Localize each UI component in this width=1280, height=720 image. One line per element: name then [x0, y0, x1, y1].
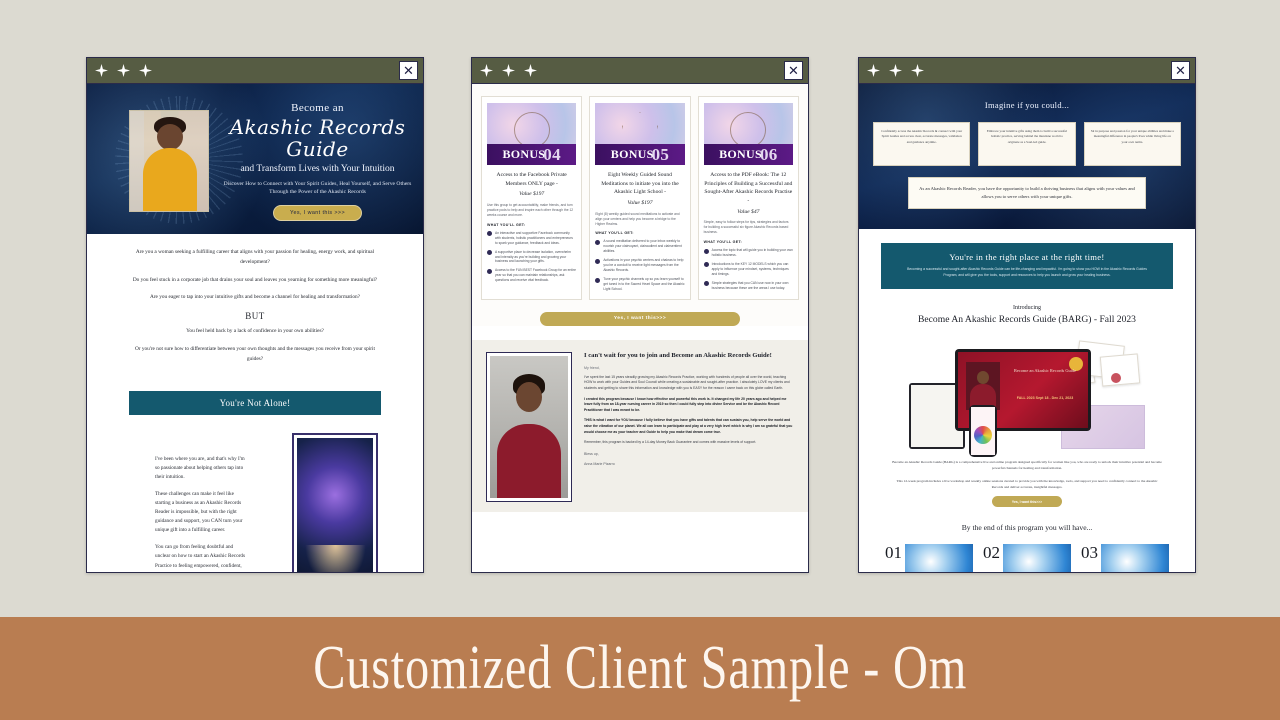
- sparkle-icon: [911, 64, 924, 77]
- bonus-list-item: A sound meditation delivered to your inb…: [595, 239, 684, 254]
- window-1-viewport[interactable]: Become an Akashic Records Guide and Tran…: [87, 84, 423, 572]
- bonus-title: Eight Weekly Guided Sound Meditations to…: [595, 171, 684, 208]
- browser-window-1[interactable]: ✕ Become an Akashic Records Guide and Tr…: [86, 57, 424, 573]
- bonus-list-item: Activations in your psychic centers and …: [595, 258, 684, 273]
- bonus-artwork: BONUS06: [704, 103, 793, 165]
- bonus-heading: WHAT YOU'LL GET:: [704, 240, 793, 244]
- testimonial-paragraph: THIS is what I want for YOU because I fu…: [584, 418, 794, 435]
- outcome-card: 03: [1081, 544, 1169, 572]
- bonus-title-text: Eight Weekly Guided Sound Meditations to…: [601, 172, 679, 195]
- author-dress: [497, 424, 561, 498]
- window-3-star-decoration: [867, 64, 924, 77]
- imagine-card: Embrace your intuitive gifts using them …: [978, 122, 1075, 166]
- hero-kicker: Become an: [222, 102, 413, 114]
- bonus-value: Value $197: [595, 199, 684, 208]
- sparkle-icon: [95, 64, 108, 77]
- not-alone-banner: You're Not Alone!: [129, 391, 381, 415]
- testimonial-paragraph: I've spent the last 15 years steadily gr…: [584, 375, 794, 392]
- laptop-screen-portrait: [966, 362, 1000, 410]
- sparkle-icon: [867, 64, 880, 77]
- close-icon[interactable]: ✕: [784, 61, 803, 80]
- bonus-blurb: Eight (8) weekly guided sound meditation…: [595, 212, 684, 227]
- hero-section: Become an Akashic Records Guide and Tran…: [87, 84, 423, 234]
- window-2-star-decoration: [480, 64, 537, 77]
- bonus-title: Access to the PDF eBook: The 12 Principl…: [704, 171, 793, 216]
- bonus-label: BONUS: [719, 147, 762, 162]
- copy-paragraph: Are you a woman seeking a fulfilling car…: [131, 248, 379, 268]
- phone-screen: [971, 407, 995, 455]
- portrait-dress: [143, 148, 197, 212]
- hero-subtitle: and Transform Lives with Your Intuition: [222, 164, 413, 174]
- program-intro: Introducing Become An Akashic Records Gu…: [881, 305, 1173, 325]
- cosmic-book-image: [297, 438, 373, 572]
- bonus-list-item: A supportive place to decrease isolation…: [487, 250, 576, 265]
- caption-text: Customized Client Sample - Om: [313, 633, 967, 704]
- outcome-image: [1101, 544, 1169, 572]
- story-paragraph: I've been where you are, and that's why …: [155, 455, 249, 482]
- testimonial-signature: Anna Marie Pizarro: [584, 462, 794, 466]
- bonus-card[interactable]: BONUS06 Access to the PDF eBook: The 12 …: [698, 96, 799, 300]
- story-paragraph: These challenges can make it feel like s…: [155, 490, 249, 535]
- browser-window-2[interactable]: ✕ BONUS04 Access to the Facebook Private…: [471, 57, 809, 573]
- bonus-blurb: Use this group to get accountability, ma…: [487, 203, 576, 218]
- bonus-band: BONUS04: [487, 144, 576, 165]
- imagine-section: Imagine if you could... Confidently acce…: [859, 84, 1195, 229]
- bonus-number: 05: [652, 145, 670, 165]
- right-place-banner: You're in the right place at the right t…: [881, 243, 1173, 289]
- portrait-face: [157, 124, 183, 150]
- product-mockup: Become an Akashic Records Guide FALL 202…: [881, 331, 1173, 459]
- bonus-band: BONUS05: [595, 144, 684, 165]
- bonus-list-item: Introductions to the KEY 12 MODELS which…: [704, 262, 793, 277]
- sacred-geometry-icon: [622, 112, 658, 148]
- outcome-image: [905, 544, 973, 572]
- bullet-icon: [487, 269, 492, 274]
- window-3-content: You're in the right place at the right t…: [859, 243, 1195, 572]
- right-place-body: Becoming a successful and sought-after A…: [901, 267, 1153, 279]
- author-photo-inner: [490, 356, 568, 498]
- program-title: Become An Akashic Records Guide (BARG) -…: [881, 314, 1173, 325]
- bonus-item-text: An interactive and supportive Facebook c…: [495, 231, 576, 246]
- story-artwork-frame: [292, 433, 378, 572]
- bonus-item-text: Introductions to the KEY 12 MODELS which…: [712, 262, 793, 277]
- story-paragraph: You can go from feeling doubtful and unc…: [155, 543, 249, 572]
- seal-icon: [1111, 373, 1121, 383]
- window-3-viewport[interactable]: Imagine if you could... Confidently acce…: [859, 84, 1195, 572]
- imagine-card: Sit in purpose and passion for your uniq…: [1084, 122, 1181, 166]
- bonus-item-text: A sound meditation delivered to your inb…: [603, 239, 684, 254]
- bullet-icon: [704, 262, 709, 267]
- bonus-artwork: BONUS05: [595, 103, 684, 165]
- bonus-item-text: Access the topic that will guide you in …: [712, 248, 793, 258]
- program-description: Become an Akashic Records Guide (BARG) i…: [881, 459, 1173, 490]
- imagine-card-row: Confidently access the Akashic Records &…: [859, 122, 1195, 166]
- author-face: [516, 382, 542, 412]
- bonus-item-text: Simple strategies that you CAN use now i…: [712, 281, 793, 291]
- outcome-card: 01: [885, 544, 973, 572]
- bonus-item-text: A supportive place to decrease isolation…: [495, 250, 576, 265]
- hero-cta-button[interactable]: Yes, I want this >>>: [273, 205, 362, 221]
- bonus-list-item: Tune your psychic channels up so you lea…: [595, 277, 684, 292]
- browser-window-3[interactable]: ✕ Imagine if you could... Confidently ac…: [858, 57, 1196, 573]
- bonus-list-item: Access to the FUN BEST Facebook Group fo…: [487, 268, 576, 283]
- copy-paragraph: Or you're not sure how to differentiate …: [131, 345, 379, 365]
- bullet-icon: [595, 259, 600, 264]
- laptop-screen-title: Become an Akashic Records Guide: [1010, 368, 1080, 375]
- story-section: I've been where you are, and that's why …: [87, 415, 423, 572]
- bonus-item-text: Activations in your psychic centers and …: [603, 258, 684, 273]
- bullet-icon: [487, 231, 492, 236]
- bonus-card[interactable]: BONUS05 Eight Weekly Guided Sound Medita…: [589, 96, 690, 300]
- description-paragraph: This 12-week program includes a live wor…: [891, 478, 1163, 491]
- bullet-icon: [487, 250, 492, 255]
- bullet-icon: [595, 278, 600, 283]
- bonus-label: BONUS: [611, 147, 654, 162]
- hero-lead: Discover How to Connect with Your Spirit…: [222, 180, 413, 197]
- window-2-viewport[interactable]: BONUS04 Access to the Facebook Private M…: [472, 84, 808, 572]
- hero-script-title: Akashic Records Guide: [222, 116, 413, 160]
- sparkle-icon: [139, 64, 152, 77]
- story-artwork-wrap: [263, 433, 407, 572]
- bonus-number: 04: [543, 145, 561, 165]
- description-paragraph: Become an Akashic Records Guide (BARG) i…: [891, 459, 1163, 472]
- author-photo: [486, 352, 572, 502]
- sacred-geometry-icon: [514, 112, 550, 148]
- portrait-face: [977, 371, 989, 384]
- laptop-screen-dates: FALL 2023 Sept 18 - Dec 21, 2023: [1010, 396, 1080, 401]
- imagine-card: Confidently access the Akashic Records &…: [873, 122, 970, 166]
- sparkle-icon: [117, 64, 130, 77]
- caption-bar: Customized Client Sample - Om: [0, 617, 1280, 720]
- bonus-list-item: An interactive and supportive Facebook c…: [487, 231, 576, 246]
- outcome-card-row: 01 02 03: [881, 544, 1173, 572]
- story-text: I've been where you are, and that's why …: [103, 433, 249, 572]
- copy-paragraph: Do you feel stuck in a corporate job tha…: [131, 276, 379, 286]
- bonus-card-row: BONUS04 Access to the Facebook Private M…: [481, 96, 799, 300]
- bonus-section: BONUS04 Access to the Facebook Private M…: [472, 84, 808, 326]
- opportunity-statement: As an Akashic Records Reader, you have t…: [908, 177, 1146, 209]
- bonus-value: Value $47: [704, 208, 793, 217]
- bonus-item-text: Access to the FUN BEST Facebook Group fo…: [495, 268, 576, 283]
- imagine-heading: Imagine if you could...: [859, 100, 1195, 110]
- bonus-list-item: Simple strategies that you CAN use now i…: [704, 281, 793, 291]
- bullet-icon: [595, 240, 600, 245]
- bullet-icon: [704, 249, 709, 254]
- bonus-label: BONUS: [502, 147, 545, 162]
- sacred-geometry-icon: [730, 112, 766, 148]
- bonus-list-item: Access the topic that will guide you in …: [704, 248, 793, 258]
- bonus-title: Access to the Facebook Private Members O…: [487, 171, 576, 199]
- testimonial-section: I can't wait for you to join and Become …: [472, 340, 808, 512]
- bullet-icon: [704, 281, 709, 286]
- testimonial-heading: I can't wait for you to join and Become …: [584, 352, 794, 361]
- sparkle-icon: [502, 64, 515, 77]
- but-heading: BUT: [131, 311, 379, 321]
- sparkle-icon: [480, 64, 493, 77]
- bonus-value: Value $197: [487, 190, 576, 199]
- bonus-title-text: Access to the PDF eBook: The 12 Principl…: [704, 172, 792, 204]
- mockup-phone: [969, 405, 997, 457]
- sparkle-icon: [524, 64, 537, 77]
- testimonial-paragraph: I created this program because I know ho…: [584, 397, 794, 414]
- bonus-cta-button[interactable]: Yes, I want this>>>: [540, 312, 740, 326]
- testimonial-paragraph: Remember, this program is backed by a 14…: [584, 440, 794, 446]
- testimonial-signoff: Bless up,: [584, 452, 794, 456]
- bonus-artwork: BONUS04: [487, 103, 576, 165]
- testimonial-paragraph-bold: I created this program because I know ho…: [584, 397, 786, 412]
- testimonial-salutation: My friend,: [584, 366, 794, 370]
- bonus-title-text: Access to the Facebook Private Members O…: [497, 172, 567, 187]
- pain-points-copy: Are you a woman seeking a fulfilling car…: [87, 234, 423, 383]
- color-wheel-icon: [974, 426, 992, 444]
- close-icon[interactable]: ✕: [399, 61, 418, 80]
- hero-portrait-image: [129, 110, 209, 212]
- bonus-card[interactable]: BONUS04 Access to the Facebook Private M…: [481, 96, 582, 300]
- copy-paragraph: Are you eager to tap into your intuitive…: [131, 293, 379, 303]
- bonus-heading: WHAT YOU'LL GET:: [487, 223, 576, 227]
- bonus-blurb: Simple, easy to follow steps for tips, s…: [704, 220, 793, 235]
- program-cta-button[interactable]: Yes, I want this>>>: [992, 496, 1062, 507]
- bonus-band: BONUS06: [704, 144, 793, 165]
- window-1-star-decoration: [95, 64, 152, 77]
- copy-paragraph: You feel held back by a lack of confiden…: [131, 327, 379, 337]
- bonus-number: 06: [760, 145, 778, 165]
- window-3-titlebar[interactable]: ✕: [859, 58, 1195, 84]
- window-1-titlebar[interactable]: ✕: [87, 58, 423, 84]
- window-2-titlebar[interactable]: ✕: [472, 58, 808, 84]
- right-place-heading: You're in the right place at the right t…: [901, 252, 1153, 262]
- bonus-heading: WHAT YOU'LL GET:: [595, 231, 684, 235]
- outcome-number: 02: [983, 544, 1000, 561]
- close-icon[interactable]: ✕: [1171, 61, 1190, 80]
- outcome-image: [1003, 544, 1071, 572]
- hero-copy: Become an Akashic Records Guide and Tran…: [222, 102, 413, 221]
- testimonial-paragraph-bold: THIS is what I want for YOU because I fu…: [584, 418, 792, 433]
- outcome-number: 03: [1081, 544, 1098, 561]
- sparkle-icon: [889, 64, 902, 77]
- bonus-item-text: Tune your psychic channels up so you lea…: [603, 277, 684, 292]
- outcomes-heading: By the end of this program you will have…: [881, 523, 1173, 532]
- outcome-number: 01: [885, 544, 902, 561]
- outcome-card: 02: [983, 544, 1071, 572]
- introducing-label: Introducing: [881, 305, 1173, 311]
- worksheet-page: [1100, 353, 1140, 386]
- testimonial-text: I can't wait for you to join and Become …: [584, 352, 794, 502]
